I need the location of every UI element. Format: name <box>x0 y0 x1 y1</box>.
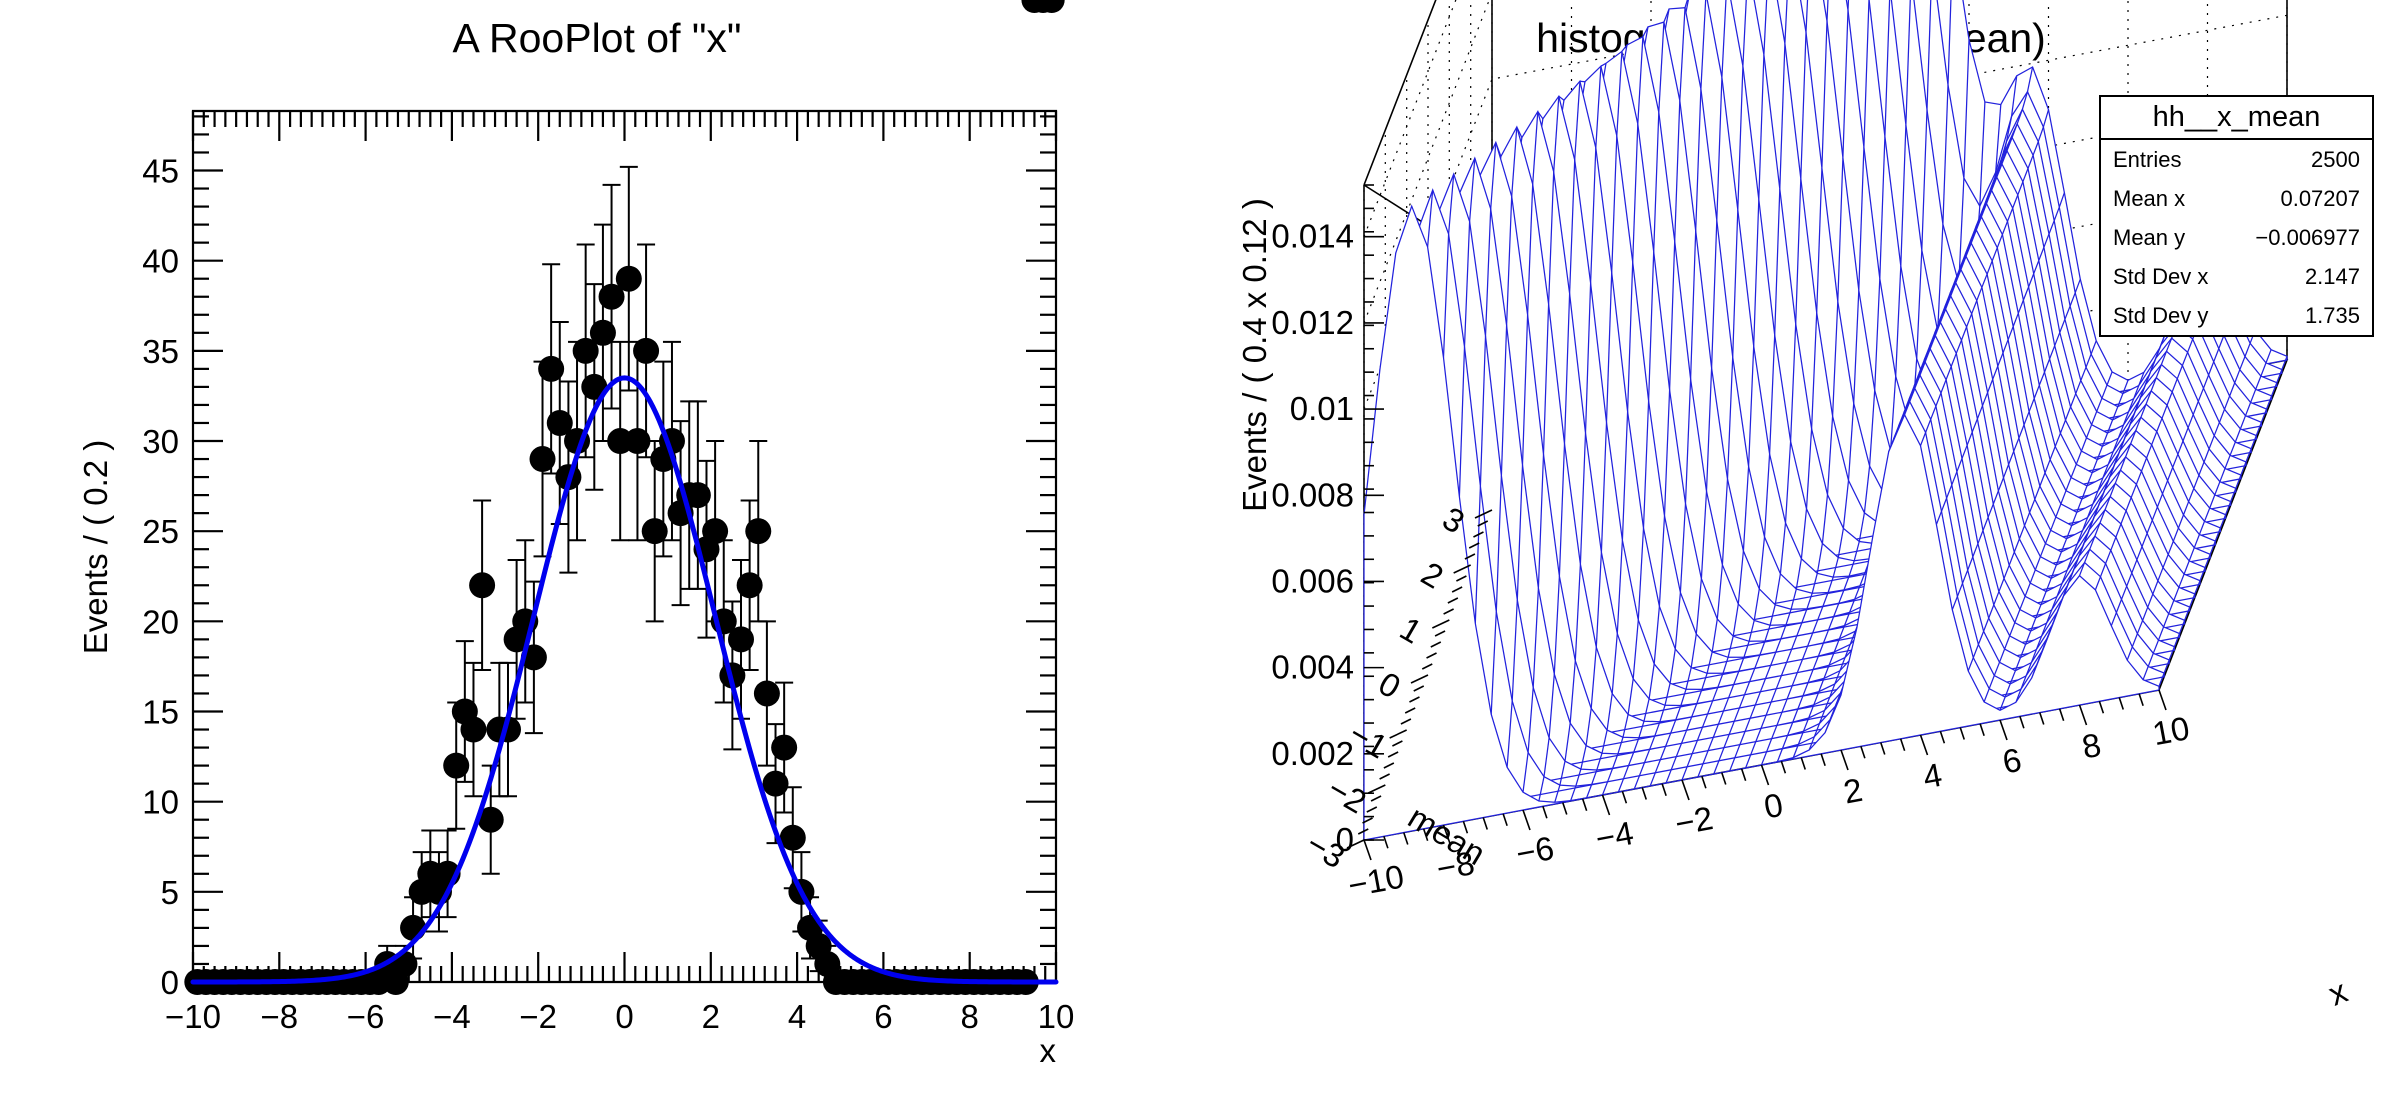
stats-rows: Entries2500Mean x0.07207Mean y−0.006977S… <box>2101 140 2372 335</box>
z-tick-label: 0.002 <box>1271 735 1354 772</box>
y-tick-label: 15 <box>142 694 179 731</box>
data-marker <box>443 753 469 779</box>
data-marker <box>616 266 642 292</box>
y-tick-label: 0 <box>161 964 179 1001</box>
y-axis-ticks <box>193 116 1056 982</box>
pad-surface[interactable]: histogram of model(x|mean) 00.0020.0040.… <box>1194 0 2388 1116</box>
y-tick-label: 40 <box>142 243 179 280</box>
z-tick-label: 0.014 <box>1271 218 1354 255</box>
x-tick-label: 0 <box>615 998 633 1035</box>
z-tick-label: 0.01 <box>1290 390 1354 427</box>
x-axis-tick-labels: −10−8−6−4−20246810 <box>165 998 1074 1035</box>
z-tick-label: 0.006 <box>1271 562 1354 599</box>
stats-key: Mean y <box>2113 227 2185 249</box>
stats-box[interactable]: hh__x_mean Entries2500Mean x0.07207Mean … <box>2099 95 2374 337</box>
x-tick-label: −4 <box>433 998 471 1035</box>
y-tick-label: 10 <box>142 784 179 821</box>
data-marker <box>737 572 763 598</box>
x-tick-label-3d: 0 <box>1761 786 1786 826</box>
data-marker <box>745 518 771 544</box>
data-marker <box>702 518 728 544</box>
data-marker <box>460 717 486 743</box>
y-tick-label: 20 <box>142 603 179 640</box>
y-tick-label: 35 <box>142 333 179 370</box>
fit-curve <box>193 378 1056 982</box>
x-tick-label-3d: 10 <box>2149 709 2192 752</box>
pad-rooplot[interactable]: A RooPlot of "x" 051015202530354045 −10−… <box>0 0 1194 1116</box>
data-marker <box>728 626 754 652</box>
stats-row: Mean y−0.006977 <box>2101 218 2372 257</box>
data-marker <box>754 680 780 706</box>
stats-box-title: hh__x_mean <box>2101 97 2372 140</box>
x-tick-label: −6 <box>347 998 385 1035</box>
stats-key: Std Dev x <box>2113 266 2208 288</box>
x-tick-label-3d: −4 <box>1593 814 1637 857</box>
stats-row: Std Dev y1.735 <box>2101 296 2372 335</box>
z-tick-label: 0.008 <box>1271 476 1354 513</box>
data-marker <box>530 446 556 472</box>
stats-key: Mean x <box>2113 188 2185 210</box>
stats-row: Entries2500 <box>2101 140 2372 179</box>
y-axis-tick-labels: 051015202530354045 <box>142 153 179 1001</box>
stats-row: Std Dev x2.147 <box>2101 257 2372 296</box>
x-tick-label: −2 <box>519 998 557 1035</box>
x-tick-label-3d: −6 <box>1513 829 1557 872</box>
stats-row: Mean x0.07207 <box>2101 179 2372 218</box>
z-tick-label: 0.004 <box>1271 649 1354 686</box>
stats-value: 2.147 <box>2305 266 2360 288</box>
data-marker <box>633 338 659 364</box>
data-marker <box>771 735 797 761</box>
x-axis-ticks <box>193 111 1056 982</box>
data-marker <box>590 320 616 346</box>
z-tick-label: 0.012 <box>1271 304 1354 341</box>
y-tick-label: 30 <box>142 423 179 460</box>
x-tick-label-3d: 6 <box>2000 741 2025 781</box>
y-tick-label: 25 <box>142 513 179 550</box>
x-tick-label-3d: 8 <box>2079 726 2104 766</box>
x-tick-label: 4 <box>788 998 806 1035</box>
x-tick-label: 6 <box>874 998 892 1035</box>
x-tick-label-3d: 2 <box>1841 771 1866 811</box>
z-axis-title: Events / ( 0.4 x 0.12 ) <box>1236 198 1273 512</box>
x-tick-label: −10 <box>165 998 221 1035</box>
y-axis-title: Events / ( 0.2 ) <box>77 440 114 655</box>
data-marker <box>642 518 668 544</box>
data-markers <box>184 0 1064 995</box>
x-tick-label-3d: −10 <box>1345 857 1407 904</box>
data-marker <box>400 915 426 941</box>
data-marker <box>763 771 789 797</box>
x-axis-title: x <box>1040 1032 1057 1069</box>
x-tick-label: 8 <box>961 998 979 1035</box>
stats-value: −0.006977 <box>2255 227 2360 249</box>
x-tick-label-3d: 4 <box>1920 756 1945 796</box>
data-marker <box>624 428 650 454</box>
data-marker <box>469 572 495 598</box>
stats-key: Std Dev y <box>2113 305 2208 327</box>
x-axis-title-3d: x <box>2323 972 2353 1013</box>
stats-value: 1.735 <box>2305 305 2360 327</box>
stats-value: 0.07207 <box>2280 188 2360 210</box>
plot-frame <box>193 111 1056 982</box>
stats-key: Entries <box>2113 149 2181 171</box>
x-tick-label-3d: −2 <box>1672 799 1716 842</box>
stats-value: 2500 <box>2311 149 2360 171</box>
left-plot-svg: 051015202530354045 −10−8−6−4−20246810 Ev… <box>0 0 1194 1116</box>
data-marker <box>538 356 564 382</box>
root-canvas: A RooPlot of "x" 051015202530354045 −10−… <box>0 0 2388 1116</box>
x-tick-label: 2 <box>702 998 720 1035</box>
y-tick-label: 45 <box>142 153 179 190</box>
x-tick-label: 10 <box>1038 998 1075 1035</box>
x-tick-label: −8 <box>260 998 298 1035</box>
y-tick-label: 5 <box>161 874 179 911</box>
